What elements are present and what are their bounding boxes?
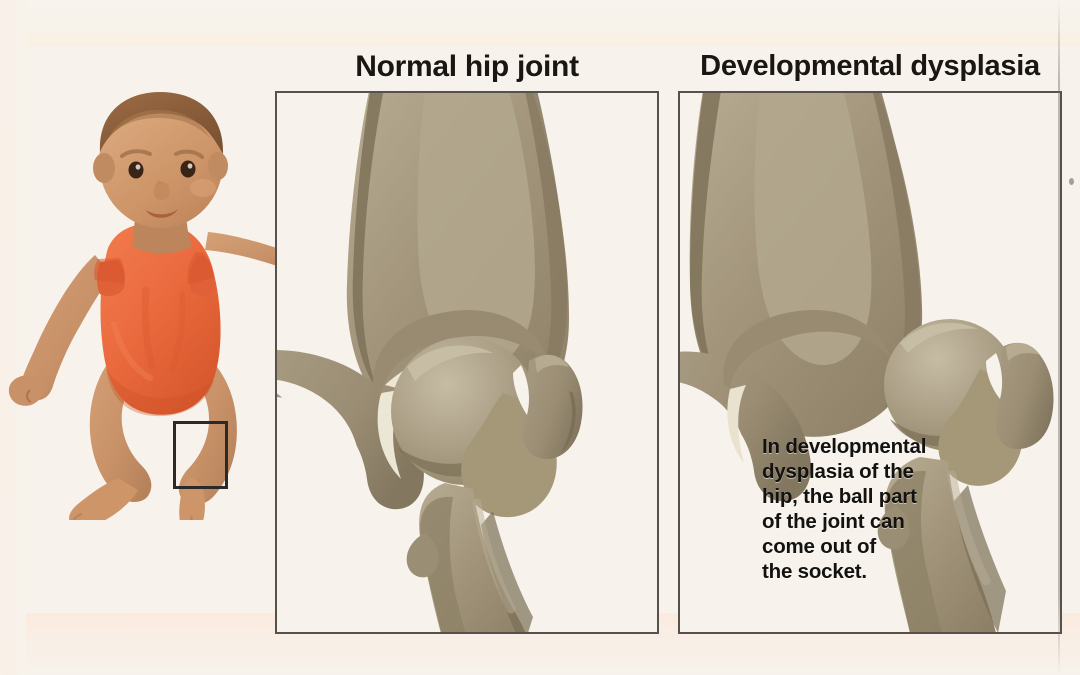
background-band-top xyxy=(0,0,1080,46)
greater-trochanter xyxy=(996,343,1054,449)
panel-developmental-dysplasia: In developmental dysplasia of the hip, t… xyxy=(678,91,1062,634)
caption-line: the socket. xyxy=(762,559,976,584)
dysplasia-caption: In developmental dysplasia of the hip, t… xyxy=(762,434,976,584)
hip-highlight-box xyxy=(173,421,228,489)
caption-line: hip, the ball part xyxy=(762,484,976,509)
panel-normal-hip-joint xyxy=(275,91,659,634)
right-edge-line xyxy=(1058,0,1060,675)
panel-title-dysplasia: Developmental dysplasia xyxy=(678,50,1062,83)
panel-title-normal: Normal hip joint xyxy=(275,50,659,84)
baby-head xyxy=(93,92,228,228)
right-edge-speck xyxy=(1069,178,1074,185)
caption-line: dysplasia of the xyxy=(762,459,976,484)
caption-line: come out of xyxy=(762,534,976,559)
caption-line: of the joint can xyxy=(762,509,976,534)
normal-hip-svg xyxy=(277,93,657,632)
caption-line: In developmental xyxy=(762,434,976,459)
panel-normal-artwork xyxy=(277,93,657,632)
panel-dysplasia-artwork: In developmental dysplasia of the hip, t… xyxy=(680,93,1060,632)
figure-root: Normal hip joint Developmental dysplasia xyxy=(0,0,1080,675)
